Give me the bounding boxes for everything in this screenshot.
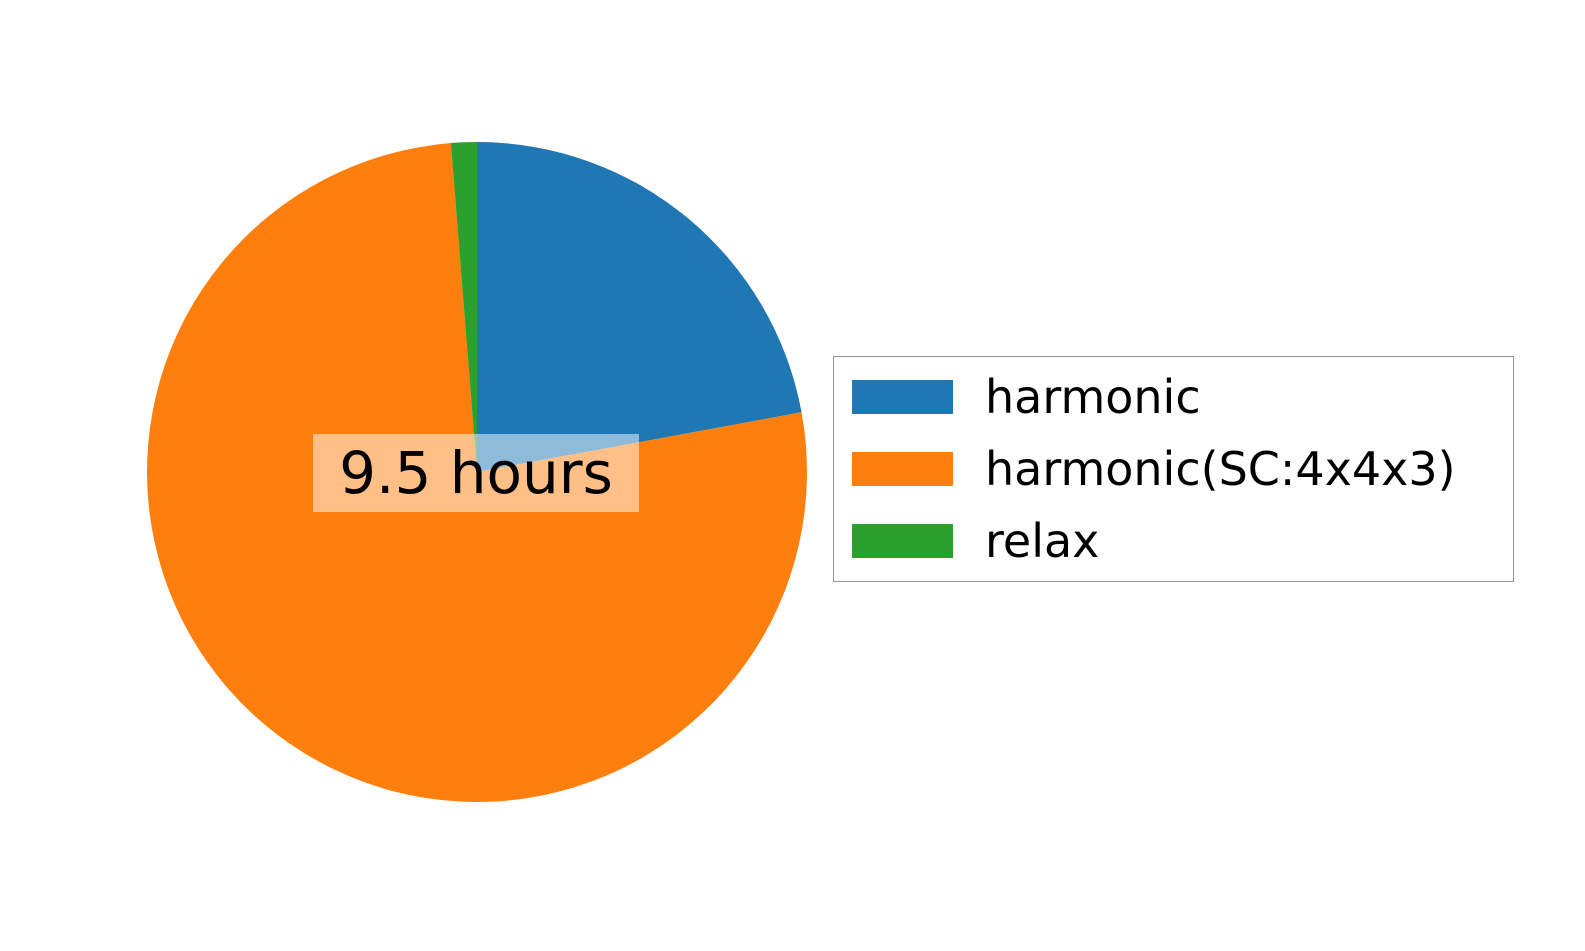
chart-legend: harmonic harmonic(SC:4x4x3) relax: [833, 356, 1514, 582]
legend-swatch-harmonic: [852, 380, 953, 414]
legend-label-harmonic: harmonic: [985, 374, 1201, 420]
legend-swatch-relax: [852, 524, 953, 558]
legend-item-harmonic[interactable]: harmonic: [852, 380, 1201, 414]
pie-center-label-text: 9.5 hours: [339, 444, 613, 502]
figure-canvas: 9.5 hours harmonic harmonic(SC:4x4x3) re…: [0, 0, 1585, 951]
legend-label-harmonic-sc: harmonic(SC:4x4x3): [985, 446, 1456, 492]
legend-label-relax: relax: [985, 518, 1099, 564]
pie-center-label: 9.5 hours: [313, 434, 639, 512]
legend-item-relax[interactable]: relax: [852, 524, 1099, 558]
legend-item-harmonic-sc[interactable]: harmonic(SC:4x4x3): [852, 452, 1456, 486]
legend-items-list: harmonic harmonic(SC:4x4x3) relax: [834, 357, 1513, 581]
legend-swatch-harmonic-sc: [852, 452, 953, 486]
